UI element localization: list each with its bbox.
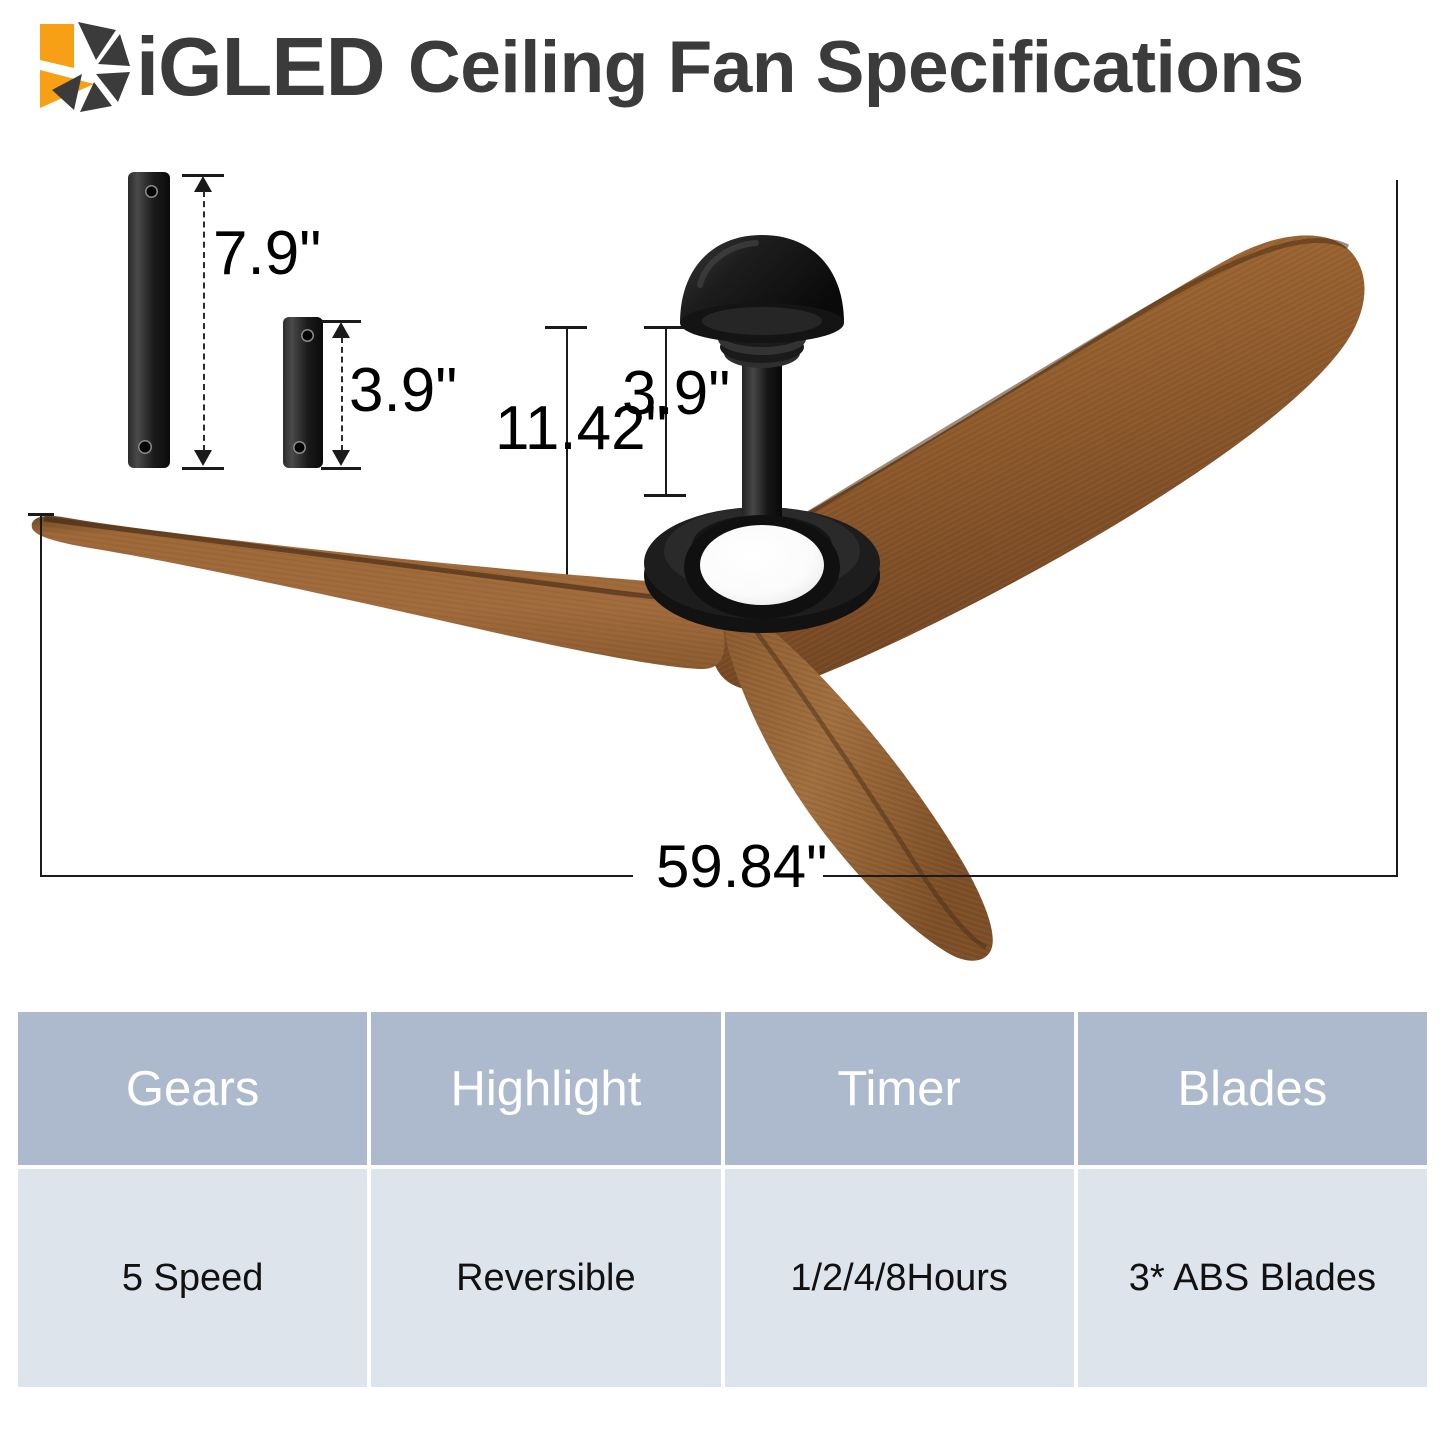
table-header-timer: Timer xyxy=(725,1012,1074,1165)
dim-line-span-bottom-right xyxy=(823,875,1398,877)
table-row: 5 Speed Reversible 1/2/4/8Hours 3* ABS B… xyxy=(18,1169,1427,1387)
table-cell-timer: 1/2/4/8Hours xyxy=(725,1169,1074,1387)
brand-name: iGLED xyxy=(136,25,385,108)
table-header-row: Gears Highlight Timer Blades xyxy=(18,1012,1427,1165)
dim-line-span-left xyxy=(40,513,42,875)
brand-logo: iGLED xyxy=(34,16,384,116)
table-header-highlight: Highlight xyxy=(371,1012,720,1165)
product-diagram: 7.9" 3.9" 11.42" 3.9" xyxy=(0,135,1445,1000)
table-header-gears: Gears xyxy=(18,1012,367,1165)
dim-label-span-width: 59.84" xyxy=(656,837,827,897)
table-cell-gears: 5 Speed xyxy=(18,1169,367,1387)
dim-cap-span-left xyxy=(28,513,54,516)
aperture-logo-icon xyxy=(34,18,134,114)
fan-ceiling-canopy xyxy=(680,235,844,343)
specifications-table: Gears Highlight Timer Blades 5 Speed Rev… xyxy=(18,1012,1427,1387)
dim-line-span-bottom-left xyxy=(40,875,633,877)
dim-line-span-right xyxy=(1396,180,1398,875)
page-title: Ceiling Fan Specifications xyxy=(408,22,1304,113)
fan-led-light xyxy=(684,515,840,619)
table-cell-highlight: Reversible xyxy=(371,1169,720,1387)
fan-blade-left xyxy=(32,516,725,669)
table-cell-blades: 3* ABS Blades xyxy=(1078,1169,1427,1387)
page-header: iGLED Ceiling Fan Specifications xyxy=(0,0,1445,135)
table-header-blades: Blades xyxy=(1078,1012,1427,1165)
